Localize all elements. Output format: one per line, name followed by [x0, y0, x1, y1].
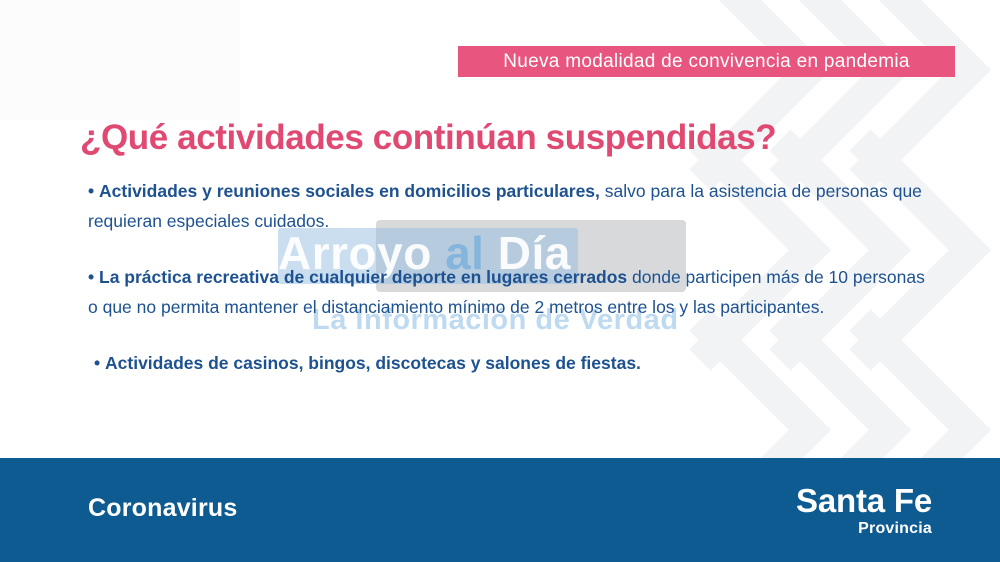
footer-title: Coronavirus — [88, 494, 237, 523]
bullet-bold-2: La práctica recreativa de cualquier depo… — [99, 267, 627, 287]
bullet-item-2: • La práctica recreativa de cualquier de… — [88, 262, 933, 322]
bullet-marker-2: • — [88, 267, 94, 287]
bullet-item-1: • Actividades y reuniones sociales en do… — [88, 176, 933, 236]
logo-sub-text: Provincia — [796, 519, 932, 538]
footer-bar: Coronavirus Santa Fe Provincia — [0, 458, 1000, 562]
background-soft-panel — [0, 0, 240, 120]
bullet-bold-3: Actividades de casinos, bingos, discotec… — [105, 353, 641, 373]
santa-fe-logo: Santa Fe Provincia — [796, 483, 932, 538]
logo-main-text: Santa Fe — [796, 483, 932, 519]
slide-canvas: Nueva modalidad de convivencia en pandem… — [0, 0, 1000, 562]
header-banner: Nueva modalidad de convivencia en pandem… — [458, 46, 955, 77]
bullet-item-3: • Actividades de casinos, bingos, discot… — [88, 348, 933, 378]
bullet-bold-1: Actividades y reuniones sociales en domi… — [99, 181, 600, 201]
bullet-list: • Actividades y reuniones sociales en do… — [88, 176, 933, 378]
bullet-marker-3: • — [94, 353, 100, 373]
page-title: ¿Qué actividades continúan suspendidas? — [80, 118, 776, 158]
bullet-marker-1: • — [88, 181, 94, 201]
header-banner-text: Nueva modalidad de convivencia en pandem… — [503, 51, 910, 73]
